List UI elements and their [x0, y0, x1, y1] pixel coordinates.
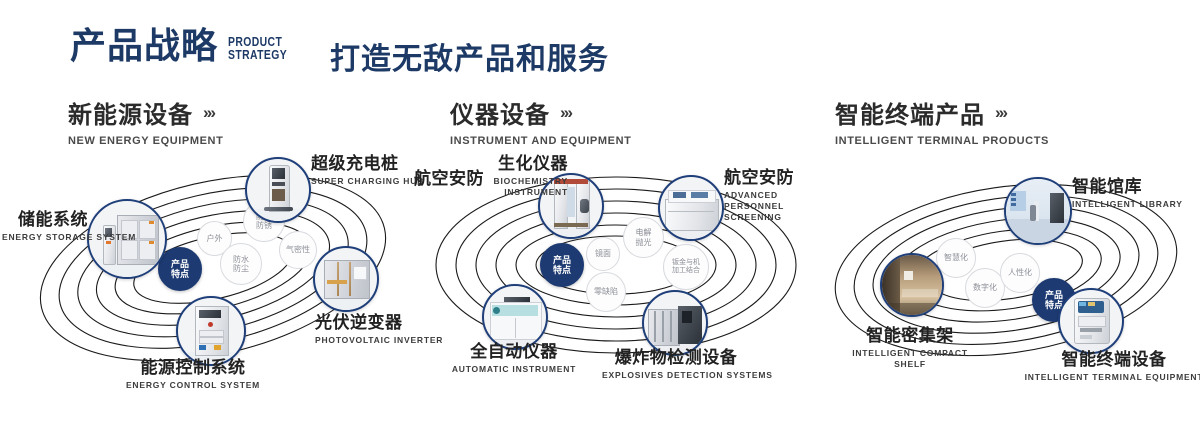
caption-automatic-instrument: 全自动仪器 AUTOMATIC INSTRUMENT [440, 342, 588, 375]
section-title-intelligent-terminal-en: INTELLIGENT TERMINAL PRODUCTS [835, 135, 1049, 147]
cluster-intelligent-terminal: 智慧化 数字化 人性化 产品 特点 智能馆库 INTELLIGENT LIBRA… [810, 150, 1200, 390]
product-node-control-cabinet[interactable] [176, 296, 246, 366]
page-title-english-line2: STRATEGY [228, 48, 287, 61]
section-label-new-energy: 新能源设备 [68, 95, 193, 130]
feature-bubble-sheetmetal-label: 钣金与机加工结合 [670, 259, 702, 275]
section-title-intelligent-terminal-cn: 智能终端产品 ››› [835, 95, 1049, 130]
explosives-detector-icon [644, 292, 706, 354]
section-title-instrument: 仪器设备 ››› INSTRUMENT AND EQUIPMENT [450, 95, 631, 147]
section-title-intelligent-terminal: 智能终端产品 ››› INTELLIGENT TERMINAL PRODUCTS [835, 95, 1049, 147]
product-node-explosives-detector[interactable] [642, 290, 708, 356]
section-title-instrument-en: INSTRUMENT AND EQUIPMENT [450, 135, 631, 147]
library-room-icon [1006, 179, 1070, 243]
caption-compact-shelf: 智能密集架 INTELLIGENT COMPACT SHELF [818, 326, 1002, 370]
product-node-automatic-analyzer[interactable] [482, 284, 548, 350]
product-node-pv-inverter[interactable] [313, 246, 379, 312]
page-title-english-line1: PRODUCT [228, 35, 287, 48]
caption-control-cabinet-cn: 能源控制系统 [88, 358, 298, 378]
caption-explosives-detection-cn: 爆炸物检测设备 [602, 348, 750, 368]
caption-energy-storage-cn: 储能系统 [2, 210, 88, 230]
charging-pile-icon [247, 159, 309, 221]
page-header: 产品战略 PRODUCT STRATEGY [70, 28, 302, 64]
section-label-instrument: 仪器设备 [450, 95, 550, 130]
caption-terminal-equipment: 智能终端设备 INTELLIGENT TERMINAL EQUIPMENT [1024, 350, 1200, 383]
feature-bubble-waterproof: 防水防尘 [220, 243, 262, 285]
caption-compact-shelf-cn: 智能密集架 [818, 326, 1002, 346]
pv-inverter-cabinet-icon [315, 248, 377, 310]
cluster-instrument: 产品 特点 镜面 电解抛光 钣金与机加工结合 零缺陷 航空安防 生化仪器 BIO… [420, 150, 810, 390]
caption-aviation-security-left: 航空安防 [404, 169, 484, 189]
chevron-right-icon: ››› [995, 103, 1006, 123]
chevron-right-icon: ››› [560, 103, 571, 123]
caption-library-en: INTELLIGENT LIBRARY [1072, 199, 1183, 210]
caption-automatic-instrument-cn: 全自动仪器 [440, 342, 588, 362]
product-strategy-infographic: 产品战略 PRODUCT STRATEGY 打造无敌产品和服务 新能源设备 ››… [0, 0, 1200, 422]
caption-aviation-security-left-cn: 航空安防 [404, 169, 484, 189]
feature-bubble-zerodefect: 零缺陷 [586, 272, 626, 312]
page-title: 产品战略 [70, 28, 218, 64]
compact-shelf-icon [882, 255, 942, 315]
chevron-right-icon: ››› [203, 103, 214, 123]
section-title-instrument-cn: 仪器设备 ››› [450, 95, 631, 130]
caption-control-cabinet-en: ENERGY CONTROL SYSTEM [88, 380, 298, 391]
feature-primary-line2: 特点 [171, 269, 189, 279]
caption-terminal-equipment-en: INTELLIGENT TERMINAL EQUIPMENT [1024, 372, 1200, 383]
product-node-self-service-kiosk[interactable] [1058, 288, 1124, 354]
caption-library: 智能馆库 INTELLIGENT LIBRARY [1072, 177, 1183, 210]
feature-bubble-digital: 数字化 [965, 268, 1005, 308]
feature-bubble-electropolishing: 电解抛光 [623, 217, 664, 258]
caption-explosives-detection-en: EXPLOSIVES DETECTION SYSTEMS [602, 370, 750, 381]
caption-biochemistry: 生化仪器 BIOCHEMISTRY INSTRUMENT [482, 154, 568, 198]
caption-explosives-detection: 爆炸物检测设备 EXPLOSIVES DETECTION SYSTEMS [602, 348, 750, 381]
screening-machine-icon [660, 177, 722, 239]
product-node-compact-shelf[interactable] [880, 253, 944, 317]
section-label-intelligent-terminal: 智能终端产品 [835, 95, 985, 130]
caption-automatic-instrument-en: AUTOMATIC INSTRUMENT [440, 364, 588, 375]
product-node-charging-pile[interactable] [245, 157, 311, 223]
feature-primary-line2: 特点 [553, 265, 571, 275]
feature-bubble-airtight: 气密性 [279, 231, 317, 269]
page-title-english: PRODUCT STRATEGY [228, 35, 287, 62]
caption-energy-storage: 储能系统 ENERGY STORAGE SYSTEM [2, 210, 88, 243]
caption-library-cn: 智能馆库 [1072, 177, 1183, 197]
caption-energy-storage-en: ENERGY STORAGE SYSTEM [2, 232, 88, 243]
caption-terminal-equipment-cn: 智能终端设备 [1024, 350, 1200, 370]
feature-bubble-zerodefect-label: 零缺陷 [593, 287, 619, 296]
feature-bubble-mirror: 镜面 [586, 237, 620, 271]
caption-biochemistry-en: BIOCHEMISTRY INSTRUMENT [482, 176, 568, 198]
section-title-new-energy-cn: 新能源设备 ››› [68, 95, 223, 130]
feature-bubble-sheetmetal: 钣金与机加工结合 [663, 244, 709, 290]
feature-primary-bubble: 产品 特点 [540, 243, 584, 287]
section-title-new-energy-en: NEW ENERGY EQUIPMENT [68, 135, 223, 147]
feature-bubble-humanized: 人性化 [1000, 253, 1040, 293]
caption-control-cabinet: 能源控制系统 ENERGY CONTROL SYSTEM [88, 358, 298, 391]
cluster-new-energy: 产品 特点 户外 防腐防锈 防水防尘 气密性 储能系统 [30, 150, 420, 390]
feature-bubble-airtight-label: 气密性 [286, 245, 310, 254]
automatic-analyzer-icon [484, 286, 546, 348]
feature-bubble-waterproof-label: 防水防尘 [230, 255, 252, 273]
feature-primary-line1: 产品 [553, 255, 571, 265]
section-title-new-energy: 新能源设备 ››› NEW ENERGY EQUIPMENT [68, 95, 223, 147]
page-subtitle: 打造无敌产品和服务 [330, 34, 609, 78]
product-node-screening-machine[interactable] [658, 175, 724, 241]
self-service-kiosk-icon [1060, 290, 1122, 352]
caption-biochemistry-cn: 生化仪器 [482, 154, 568, 174]
control-cabinet-icon [178, 298, 244, 364]
product-node-library-room[interactable] [1004, 177, 1072, 245]
feature-primary-line1: 产品 [171, 259, 189, 269]
feature-bubble-intelligent: 智慧化 [936, 238, 976, 278]
caption-compact-shelf-en: INTELLIGENT COMPACT SHELF [845, 348, 975, 370]
feature-bubble-electropolishing-label: 电解抛光 [633, 228, 655, 246]
